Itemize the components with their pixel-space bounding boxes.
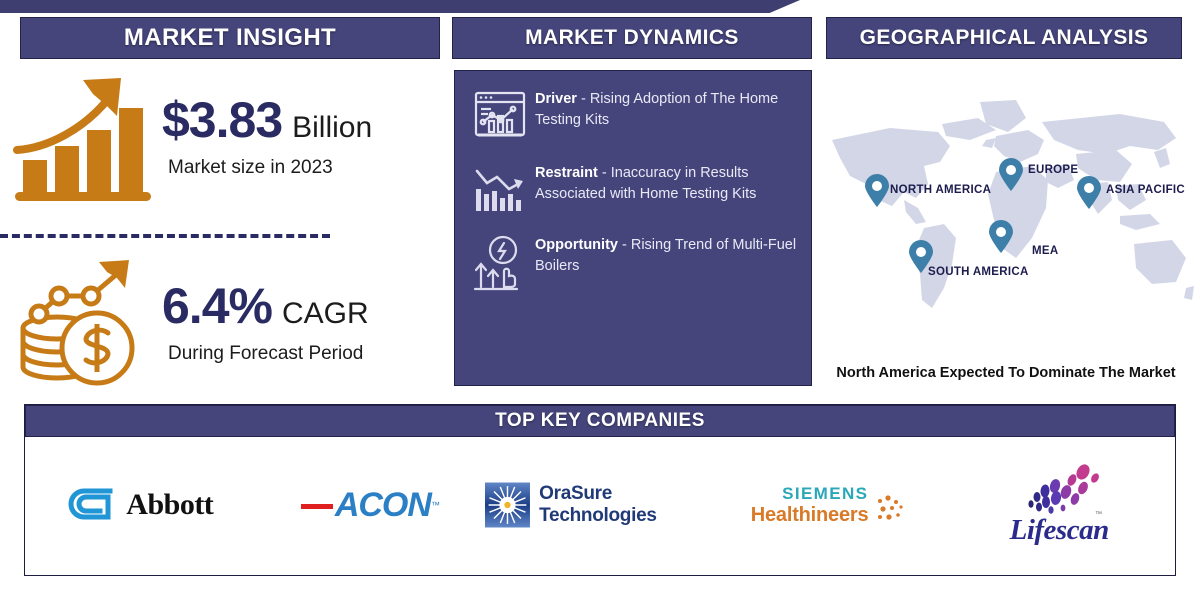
orasure-wordmark: OraSure Technologies	[539, 483, 715, 527]
acon-tm-mark: ™	[431, 500, 440, 510]
coins-dollar-growth-icon	[8, 256, 158, 391]
market-dynamics-header-label: MARKET DYNAMICS	[525, 26, 739, 50]
dynamics-item-driver: Driver - Rising Adoption of The Home Tes…	[469, 87, 797, 143]
siemens-wordmark-bottom: Healthineers	[751, 504, 869, 527]
company-logo-orasure[interactable]: OraSure Technologies	[485, 440, 715, 570]
map-label-south-america: SOUTH AMERICA	[928, 266, 1029, 278]
geographical-analysis-header: GEOGRAPHICAL ANALYSIS	[826, 17, 1182, 59]
map-label-asia-pacific: ASIA PACIFIC	[1106, 184, 1185, 196]
market-size-row: $3.83 Billion Market size in 2023	[8, 62, 438, 212]
cagr-value: 6.4%	[162, 281, 272, 331]
geographical-analysis-header-label: GEOGRAPHICAL ANALYSIS	[860, 26, 1149, 50]
abbott-wordmark: Abbott	[126, 488, 213, 522]
acon-dash-icon	[301, 495, 335, 515]
company-logo-acon[interactable]: ACON ™	[256, 440, 486, 570]
market-dynamics-box: Driver - Rising Adoption of The Home Tes…	[454, 70, 812, 386]
infographic-page: MARKET INSIGHT $3.83 Billion Market si	[0, 0, 1200, 600]
dynamics-item-restraint: Restraint - Inaccuracy in Results Associ…	[469, 161, 797, 215]
map-label-north-america: NORTH AMERICA	[890, 184, 991, 196]
lifescan-wordmark: Lifescan	[1010, 514, 1109, 547]
acon-wordmark: ACON	[335, 486, 431, 525]
opportunity-lightbulb-arrows-icon	[469, 233, 531, 291]
top-key-companies-header: TOP KEY COMPANIES	[25, 405, 1175, 437]
map-pin-mea[interactable]	[988, 220, 1014, 254]
lifescan-swirl-icon: ™	[1011, 464, 1107, 518]
top-key-companies-header-label: TOP KEY COMPANIES	[495, 410, 705, 432]
market-insight-header-label: MARKET INSIGHT	[124, 24, 336, 52]
market-size-unit: Billion	[292, 111, 372, 145]
dashboard-analytics-icon	[469, 87, 531, 143]
company-logo-siemens-healthineers[interactable]: SIEMENS Healthineers	[715, 440, 945, 570]
market-insight-header: MARKET INSIGHT	[20, 17, 440, 59]
geographical-analysis-caption: North America Expected To Dominate The M…	[812, 365, 1200, 381]
map-pin-europe[interactable]	[998, 158, 1024, 192]
cagr-unit: CAGR	[282, 297, 369, 331]
cagr-row: 6.4% CAGR During Forecast Period	[8, 248, 438, 398]
dynamics-item-opportunity: Opportunity - Rising Trend of Multi-Fuel…	[469, 233, 797, 291]
siemens-dots-icon	[874, 493, 908, 527]
map-label-mea: MEA	[1032, 245, 1058, 257]
dynamics-driver-separator: -	[577, 91, 590, 107]
map-pin-asia-pacific[interactable]	[1076, 176, 1102, 210]
market-size-caption: Market size in 2023	[168, 157, 372, 179]
dynamics-opportunity-separator: -	[618, 237, 631, 253]
company-logo-abbott[interactable]: Abbott	[26, 440, 256, 570]
cagr-metric: 6.4% CAGR During Forecast Period	[158, 281, 369, 365]
declining-bar-chart-icon	[469, 161, 531, 215]
dynamics-opportunity-label: Opportunity	[535, 237, 618, 253]
dynamics-restraint-separator: -	[598, 165, 611, 181]
company-logo-strip: Abbott ACON ™	[26, 440, 1174, 570]
cagr-caption: During Forecast Period	[168, 343, 369, 365]
dynamics-restraint-text: Restraint - Inaccuracy in Results Associ…	[531, 161, 797, 204]
world-map: NORTH AMERICA EUROPE ASIA PACIFIC MEA SO…	[820, 88, 1195, 360]
market-dynamics-header: MARKET DYNAMICS	[452, 17, 812, 59]
orasure-sunburst-icon	[485, 480, 530, 530]
map-label-europe: EUROPE	[1028, 164, 1078, 176]
top-decorative-banner	[0, 0, 800, 13]
dynamics-driver-label: Driver	[535, 91, 577, 107]
map-pin-north-america[interactable]	[864, 174, 890, 208]
dynamics-restraint-label: Restraint	[535, 165, 598, 181]
insight-divider	[0, 234, 330, 238]
abbott-symbol-icon	[68, 485, 116, 525]
dynamics-opportunity-text: Opportunity - Rising Trend of Multi-Fuel…	[531, 233, 797, 276]
company-logo-lifescan[interactable]: ™ Lifescan	[944, 440, 1174, 570]
dynamics-driver-text: Driver - Rising Adoption of The Home Tes…	[531, 87, 797, 130]
bar-chart-growth-arrow-icon	[8, 72, 158, 202]
market-size-metric: $3.83 Billion Market size in 2023	[158, 95, 372, 179]
siemens-wordmark-top: SIEMENS	[751, 484, 869, 504]
market-size-value: $3.83	[162, 95, 282, 145]
